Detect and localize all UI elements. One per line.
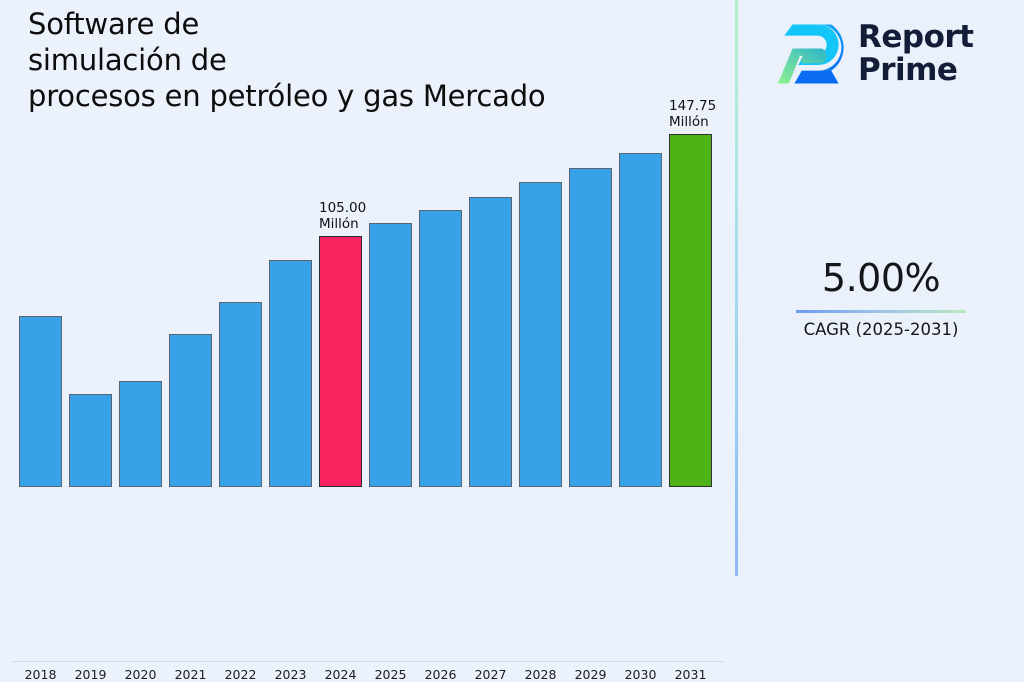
bar-rect-2026[interactable] [419, 210, 462, 487]
x-tick-2019: 2019 [69, 667, 112, 682]
bar-rect-2018[interactable] [19, 316, 62, 487]
x-tick-2020: 2020 [119, 667, 162, 682]
x-tick-2023: 2023 [269, 667, 312, 682]
bar-2028[interactable] [519, 182, 562, 487]
bar-2029[interactable] [569, 168, 612, 487]
bar-rect-2020[interactable] [119, 381, 162, 487]
bar-2024[interactable]: 105.00 Millón [319, 236, 362, 487]
bar-2025[interactable] [369, 223, 412, 487]
bar-rect-2027[interactable] [469, 197, 512, 487]
x-axis-baseline [12, 661, 724, 662]
x-tick-2024: 2024 [319, 667, 362, 682]
x-tick-2022: 2022 [219, 667, 262, 682]
bar-rect-2030[interactable] [619, 153, 662, 487]
cagr-divider [796, 310, 966, 313]
bar-2031[interactable]: 147.75 Millón [669, 134, 712, 487]
x-tick-2031: 2031 [669, 667, 712, 682]
brand-panel: Report Prime 5.00% CAGR (2025-2031) [738, 0, 1024, 576]
x-tick-2028: 2028 [519, 667, 562, 682]
x-tick-2021: 2021 [169, 667, 212, 682]
brand-logo[interactable]: Report Prime [774, 14, 1014, 94]
cagr-value: 5.00% [738, 255, 1024, 301]
bar-2023[interactable] [269, 260, 312, 487]
brand-wordmark: Report Prime [858, 21, 974, 87]
bar-2021[interactable] [169, 334, 212, 487]
bar-rect-2029[interactable] [569, 168, 612, 487]
bar-2022[interactable] [219, 302, 262, 487]
x-tick-2025: 2025 [369, 667, 412, 682]
bar-rect-2024[interactable] [319, 236, 362, 487]
x-tick-2029: 2029 [569, 667, 612, 682]
x-tick-2030: 2030 [619, 667, 662, 682]
chart-panel: Software de simulación de procesos en pe… [0, 0, 736, 576]
bar-rect-2031[interactable] [669, 134, 712, 487]
x-tick-2018: 2018 [19, 667, 62, 682]
report-prime-r-logo-icon [774, 19, 848, 89]
x-tick-2027: 2027 [469, 667, 512, 682]
page-title: Software de simulación de procesos en pe… [28, 6, 708, 114]
bar-2027[interactable] [469, 197, 512, 487]
x-tick-2026: 2026 [419, 667, 462, 682]
bar-rect-2019[interactable] [69, 394, 112, 487]
bar-rect-2022[interactable] [219, 302, 262, 487]
cagr-block: 5.00% CAGR (2025-2031) [738, 255, 1024, 340]
bar-rect-2023[interactable] [269, 260, 312, 487]
bar-rect-2025[interactable] [369, 223, 412, 487]
cagr-caption: CAGR (2025-2031) [738, 320, 1024, 340]
bar-2020[interactable] [119, 381, 162, 487]
bar-2026[interactable] [419, 210, 462, 487]
bar-chart-plot-area: 105.00 Millón147.75 Millón 2018201920202… [0, 130, 736, 532]
bar-2030[interactable] [619, 153, 662, 487]
bar-2018[interactable] [19, 316, 62, 487]
bar-2019[interactable] [69, 394, 112, 487]
bar-rect-2021[interactable] [169, 334, 212, 487]
bar-rect-2028[interactable] [519, 182, 562, 487]
